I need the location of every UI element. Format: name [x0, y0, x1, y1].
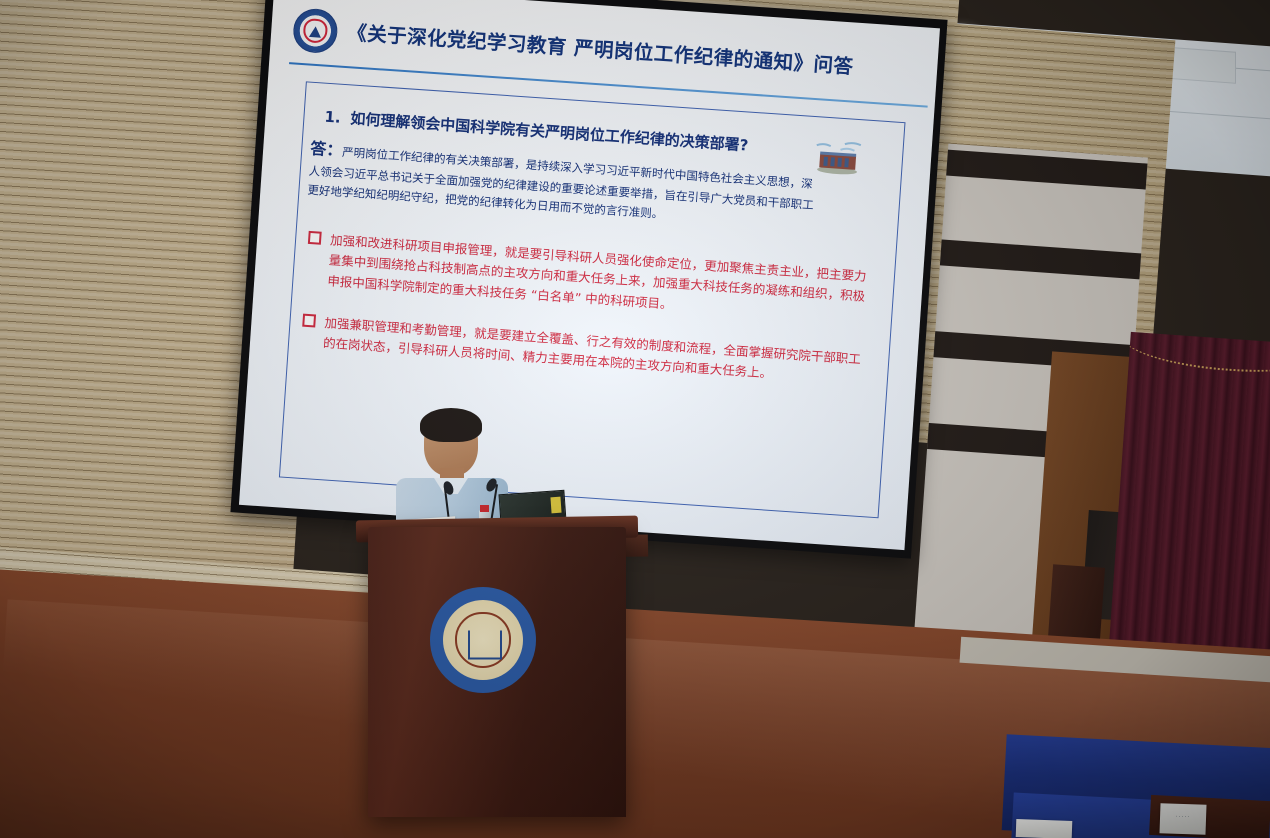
- podium: [368, 527, 626, 817]
- slide-content-box: 1.如何理解领会中国科学院有关严明岗位工作纪律的决策部署? 答：严明岗位工作纪律…: [279, 81, 906, 518]
- square-bullet-icon: [302, 313, 316, 327]
- bullet-list: 加强和改进科研项目申报管理，就是要引导科研人员强化使命定位，更加聚焦主责主业，把…: [297, 229, 885, 413]
- bullet-item-1: 加强和改进科研项目申报管理，就是要引导科研人员强化使命定位，更加聚焦主责主业，把…: [303, 229, 885, 329]
- name-card: [1016, 819, 1073, 838]
- bullet-item-2: 加强兼职管理和考勤管理，就是要建立全覆盖、行之有效的制度和流程，全面掌握研究院干…: [298, 311, 878, 391]
- laptop-screen-highlight: [550, 497, 561, 514]
- answer-label: 答：: [310, 139, 343, 160]
- institute-seal-emblem-icon: [430, 587, 536, 693]
- square-bullet-icon: [308, 231, 322, 245]
- auditorium-scene: 《关于深化党纪学习教育 严明岗位工作纪律的通知》问答 1.: [0, 0, 1270, 838]
- speaker-hair: [420, 408, 482, 442]
- water-bottle-cap: [480, 505, 489, 512]
- presentation-slide: 《关于深化党纪学习教育 严明岗位工作纪律的通知》问答 1.: [239, 0, 940, 550]
- question-number: 1.: [324, 108, 351, 128]
- institute-emblem-icon: [292, 7, 339, 54]
- name-card: ·····: [1159, 803, 1206, 835]
- projection-screen: 《关于深化党纪学习教育 严明岗位工作纪律的通知》问答 1.: [230, 0, 947, 559]
- slide-title: 《关于深化党纪学习教育 严明岗位工作纪律的通知》问答: [347, 22, 855, 78]
